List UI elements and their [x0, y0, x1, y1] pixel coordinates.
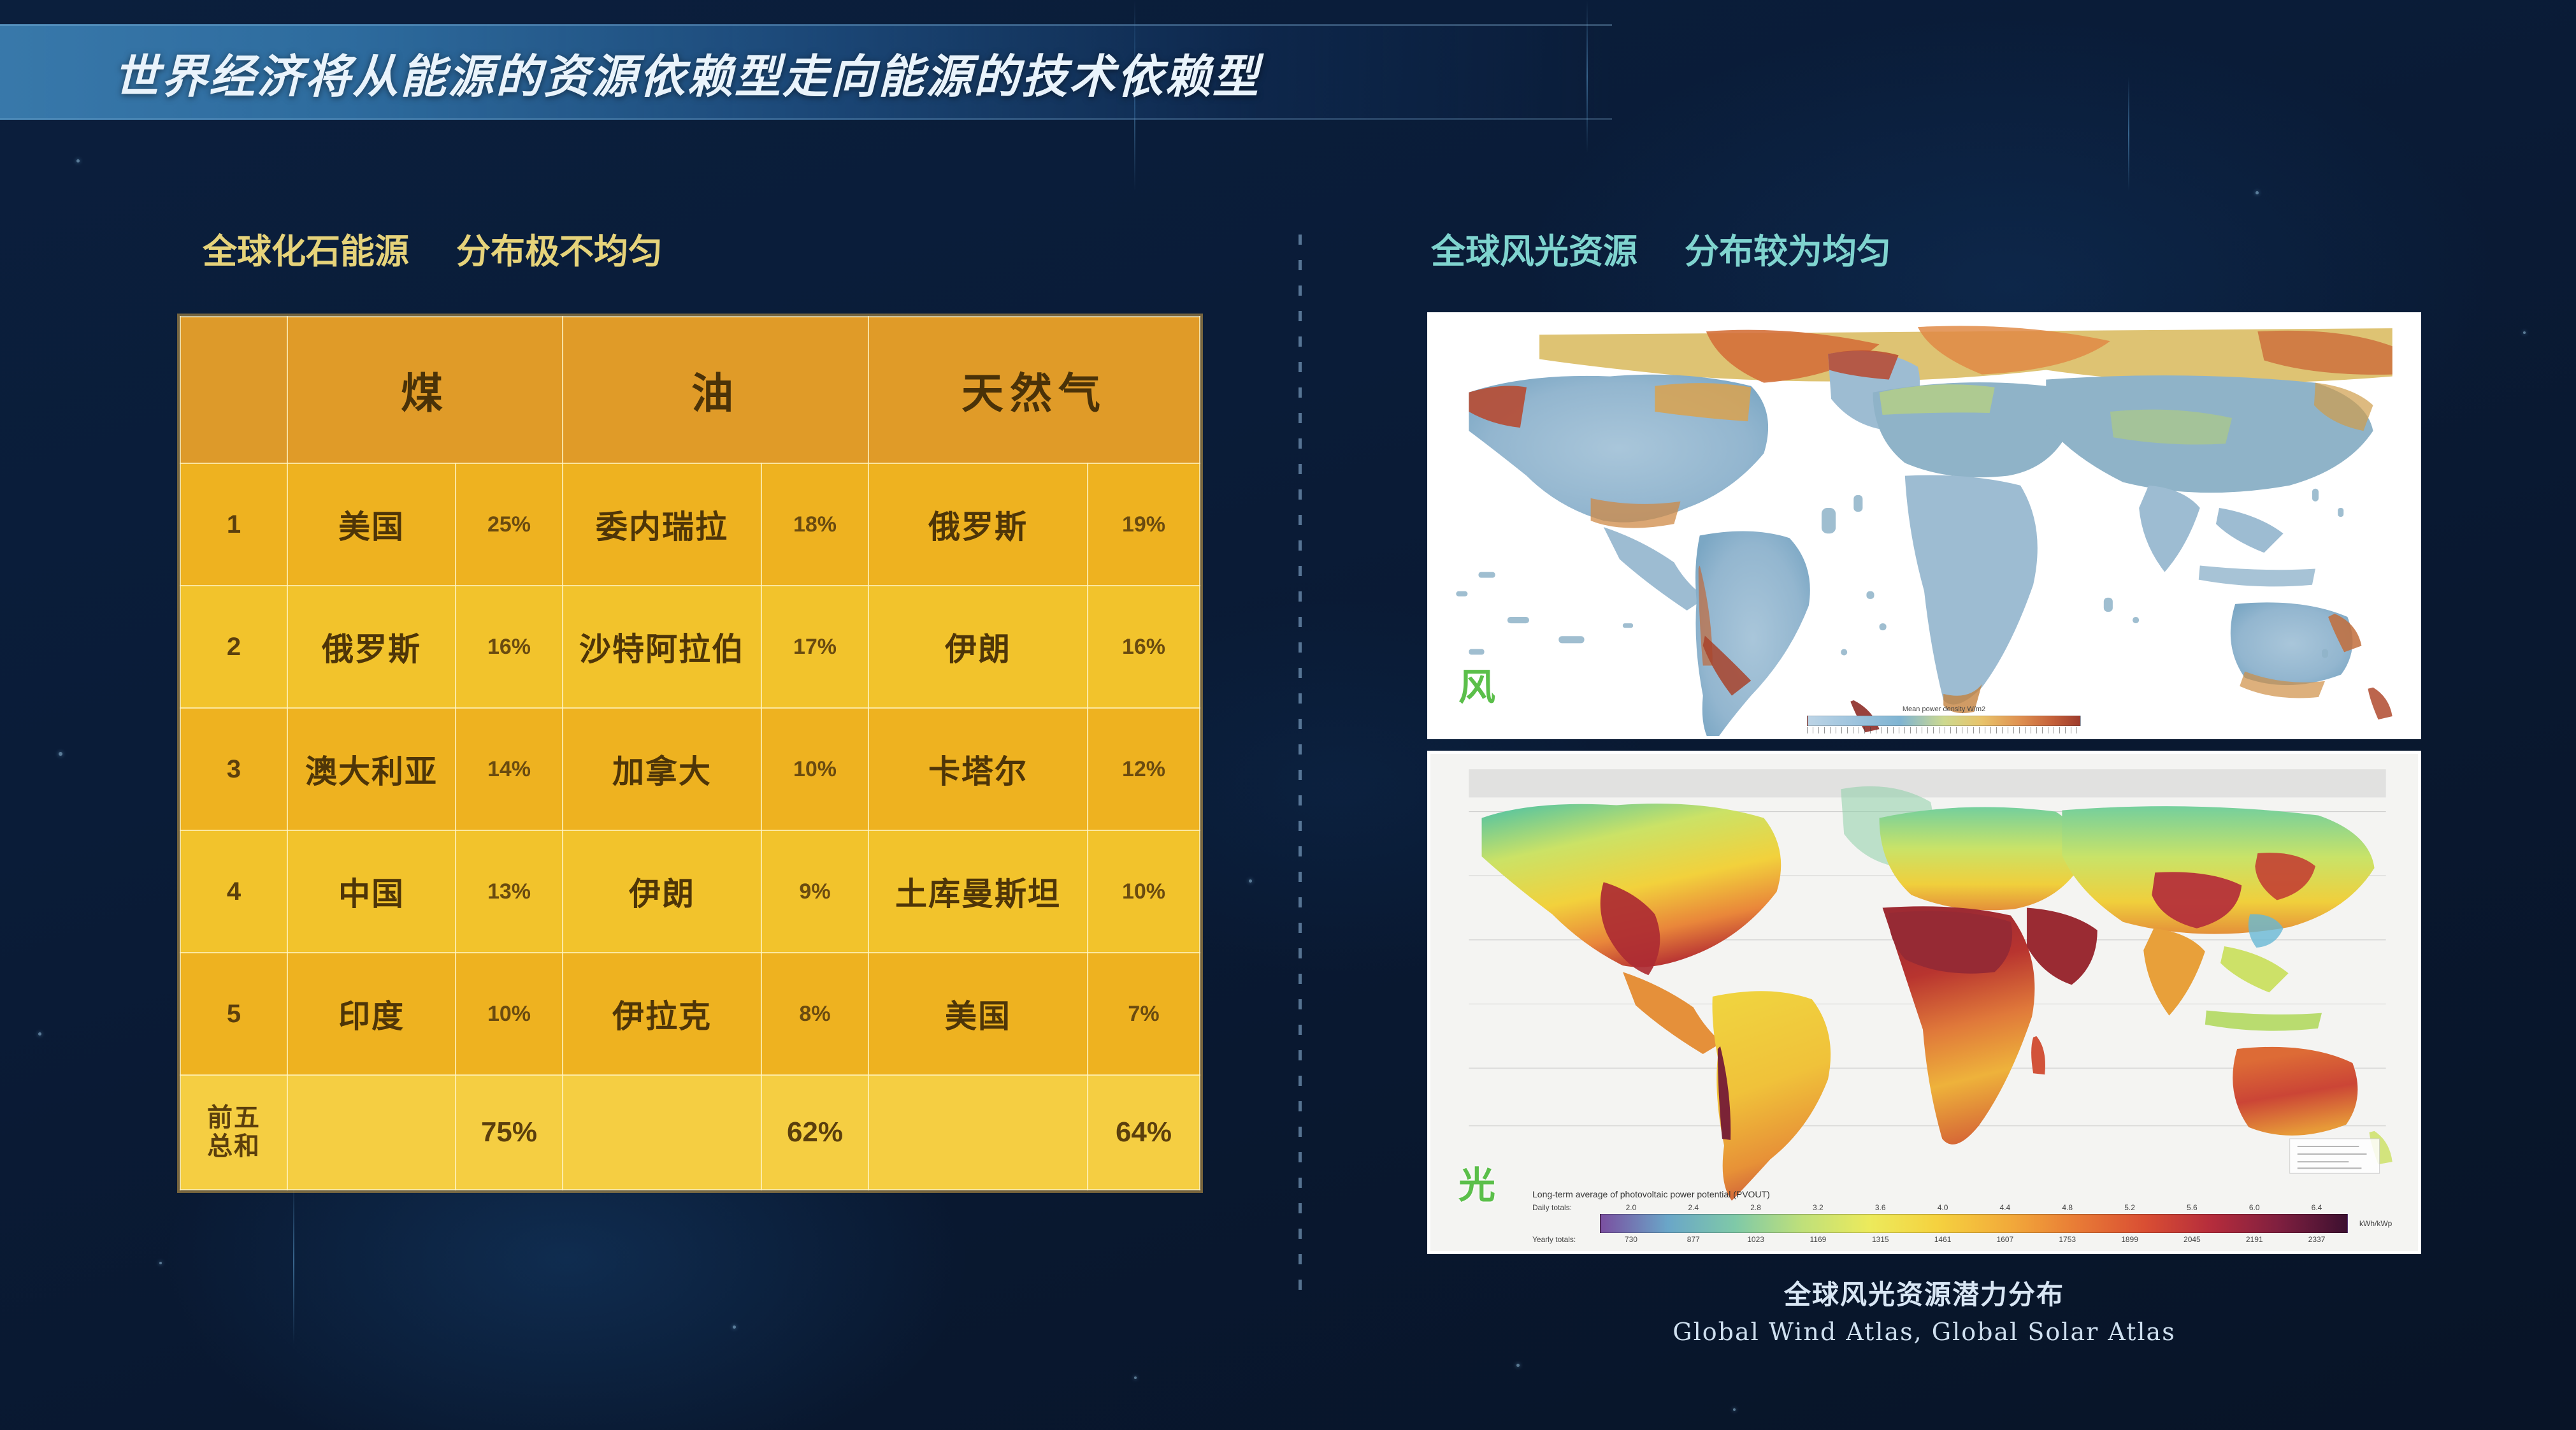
cell-coal-pct: 10% — [456, 953, 563, 1075]
table-row: 1 美国 25% 委内瑞拉 18% 俄罗斯 19% — [180, 463, 1200, 586]
solar-badge-label: 光 — [1458, 1155, 1495, 1209]
col-header-gas: 天然气 — [868, 317, 1200, 463]
slide-root: 世界经济将从能源的资源依赖型走向能源的技术依赖型 全球化石能源 分布极不均匀 全… — [0, 0, 2576, 1430]
cell-coal-country: 印度 — [287, 953, 456, 1075]
tick: 2.0 — [1600, 1203, 1662, 1212]
wind-resource-map-card: Mean power density W/m2 风 — [1427, 312, 2421, 739]
tick: 5.6 — [2161, 1203, 2223, 1212]
cell-coal-country: 俄罗斯 — [287, 586, 456, 708]
wind-colorbar — [1807, 716, 2081, 726]
tick: 1315 — [1849, 1235, 1911, 1244]
table-body: 1 美国 25% 委内瑞拉 18% 俄罗斯 19% 2 俄罗斯 16% 沙特阿拉… — [180, 463, 1200, 1190]
table-total-row: 前五 总和 75% 62% 64% — [180, 1075, 1200, 1190]
tick: 5.2 — [2099, 1203, 2161, 1212]
page-title: 世界经济将从能源的资源依赖型走向能源的技术依赖型 — [113, 39, 1260, 106]
left-heading-sub: 分布极不均匀 — [456, 223, 663, 273]
left-section-heading: 全球化石能源 分布极不均匀 — [203, 223, 663, 273]
glow-streak-c — [293, 1179, 294, 1345]
panel-divider — [1299, 235, 1302, 1300]
tick: 1753 — [2036, 1235, 2099, 1244]
cell-gas-pct: 7% — [1088, 953, 1200, 1075]
cell-oil-country: 沙特阿拉伯 — [563, 586, 761, 708]
tick: 1461 — [1911, 1235, 1974, 1244]
table-row: 4 中国 13% 伊朗 9% 土库曼斯坦 10% — [180, 830, 1200, 953]
tick: 6.0 — [2223, 1203, 2285, 1212]
tick: 4.4 — [1974, 1203, 2036, 1212]
cell-coal-country: 中国 — [287, 830, 456, 953]
maps-caption: 全球风光资源潜力分布 Global Wind Atlas, Global Sol… — [1427, 1276, 2421, 1350]
tick: 4.8 — [2036, 1203, 2099, 1212]
solar-world-map-image — [1430, 754, 2418, 1254]
cell-total-blank-gas — [868, 1075, 1088, 1190]
cell-gas-country: 俄罗斯 — [868, 463, 1088, 586]
tick: 1169 — [1787, 1235, 1849, 1244]
right-section-heading: 全球风光资源 分布较为均匀 — [1431, 223, 1891, 273]
solar-yearly-row: Yearly totals: 730 877 1023 1169 1315 14… — [1532, 1235, 2399, 1244]
cell-total-blank-oil — [563, 1075, 761, 1190]
glow-streak-d — [2128, 76, 2129, 191]
solar-yearly-label: Yearly totals: — [1532, 1235, 1594, 1244]
tick: 6.4 — [2285, 1203, 2348, 1212]
cell-gas-country: 伊朗 — [868, 586, 1088, 708]
table-row: 3 澳大利亚 14% 加拿大 10% 卡塔尔 12% — [180, 708, 1200, 830]
cell-oil-country: 加拿大 — [563, 708, 761, 830]
col-header-rank — [180, 317, 287, 463]
tick: 1607 — [1974, 1235, 2036, 1244]
cell-coal-pct: 14% — [456, 708, 563, 830]
solar-legend: Long-term average of photovoltaic power … — [1430, 1189, 2418, 1246]
cell-coal-pct: 16% — [456, 586, 563, 708]
wind-colorbar-ticks — [1807, 727, 2081, 733]
total-label-line1: 前五 — [181, 1104, 287, 1132]
slide-title-banner: 世界经济将从能源的资源依赖型走向能源的技术依赖型 — [0, 24, 1612, 120]
cell-rank: 3 — [180, 708, 287, 830]
cell-total-coal: 75% — [456, 1075, 563, 1190]
cell-coal-country: 美国 — [287, 463, 456, 586]
solar-daily-label: Daily totals: — [1532, 1203, 1594, 1212]
maps-column: Mean power density W/m2 风 — [1427, 312, 2421, 1350]
cell-total-blank-coal — [287, 1075, 456, 1190]
solar-yearly-ticks: 730 877 1023 1169 1315 1461 1607 1753 18… — [1600, 1235, 2348, 1244]
cell-gas-pct: 12% — [1088, 708, 1200, 830]
cell-coal-pct: 13% — [456, 830, 563, 953]
cell-rank: 1 — [180, 463, 287, 586]
solar-daily-row: Daily totals: 2.0 2.4 2.8 3.2 3.6 4.0 4.… — [1532, 1203, 2399, 1212]
cell-oil-pct: 9% — [761, 830, 868, 953]
cell-oil-country: 伊朗 — [563, 830, 761, 953]
fossil-reserves-table-wrapper: 煤 油 天然气 1 美国 25% 委内瑞拉 18% 俄罗斯 19% 2 俄罗斯 — [177, 314, 1203, 1193]
cell-rank: 2 — [180, 586, 287, 708]
left-heading-main: 全球化石能源 — [203, 223, 409, 273]
tick: 2.4 — [1662, 1203, 1725, 1212]
solar-daily-ticks: 2.0 2.4 2.8 3.2 3.6 4.0 4.4 4.8 5.2 5.6 … — [1600, 1203, 2348, 1212]
tick: 3.2 — [1787, 1203, 1849, 1212]
wind-badge-label: 风 — [1458, 657, 1495, 711]
tick: 730 — [1600, 1235, 1662, 1244]
col-header-oil: 油 — [563, 317, 868, 463]
cell-coal-pct: 25% — [456, 463, 563, 586]
solar-colorbar-row: kWh/kWp — [1532, 1214, 2399, 1233]
tick: 4.0 — [1911, 1203, 1974, 1212]
table-row: 2 俄罗斯 16% 沙特阿拉伯 17% 伊朗 16% — [180, 586, 1200, 708]
cell-gas-country: 卡塔尔 — [868, 708, 1088, 830]
tick: 877 — [1662, 1235, 1725, 1244]
cell-gas-pct: 10% — [1088, 830, 1200, 953]
tick: 2045 — [2161, 1235, 2223, 1244]
cell-coal-country: 澳大利亚 — [287, 708, 456, 830]
cell-total-gas: 64% — [1088, 1075, 1200, 1190]
cell-rank: 5 — [180, 953, 287, 1075]
solar-unit-label: kWh/kWp — [2354, 1219, 2399, 1228]
cell-oil-country: 伊拉克 — [563, 953, 761, 1075]
tick: 2337 — [2285, 1235, 2348, 1244]
cell-oil-pct: 18% — [761, 463, 868, 586]
cell-gas-pct: 19% — [1088, 463, 1200, 586]
total-label-line2: 总和 — [181, 1132, 287, 1161]
wind-world-map-image — [1430, 315, 2418, 739]
solar-colorbar — [1600, 1214, 2348, 1233]
tick: 3.6 — [1849, 1203, 1911, 1212]
table-header-row: 煤 油 天然气 — [180, 317, 1200, 463]
solar-legend-title: Long-term average of photovoltaic power … — [1532, 1189, 2399, 1199]
right-heading-sub: 分布较为均匀 — [1685, 223, 1891, 273]
solar-resource-map-card: Long-term average of photovoltaic power … — [1427, 751, 2421, 1254]
col-header-coal: 煤 — [287, 317, 563, 463]
cell-total-oil: 62% — [761, 1075, 868, 1190]
fossil-reserves-table: 煤 油 天然气 1 美国 25% 委内瑞拉 18% 俄罗斯 19% 2 俄罗斯 — [180, 316, 1200, 1190]
cell-oil-country: 委内瑞拉 — [563, 463, 761, 586]
wind-colorbar-label: Mean power density W/m2 — [1903, 705, 1985, 713]
cell-total-label: 前五 总和 — [180, 1075, 287, 1190]
tick: 2.8 — [1725, 1203, 1787, 1212]
cell-oil-pct: 8% — [761, 953, 868, 1075]
cell-rank: 4 — [180, 830, 287, 953]
cell-oil-pct: 10% — [761, 708, 868, 830]
right-heading-main: 全球风光资源 — [1431, 223, 1637, 273]
tick: 1899 — [2099, 1235, 2161, 1244]
cell-gas-country: 美国 — [868, 953, 1088, 1075]
cell-gas-pct: 16% — [1088, 586, 1200, 708]
cell-gas-country: 土库曼斯坦 — [868, 830, 1088, 953]
cell-oil-pct: 17% — [761, 586, 868, 708]
maps-caption-en: Global Wind Atlas, Global Solar Atlas — [1427, 1315, 2421, 1350]
tick: 1023 — [1725, 1235, 1787, 1244]
tick: 2191 — [2223, 1235, 2285, 1244]
maps-caption-cn: 全球风光资源潜力分布 — [1427, 1276, 2421, 1315]
table-row: 5 印度 10% 伊拉克 8% 美国 7% — [180, 953, 1200, 1075]
